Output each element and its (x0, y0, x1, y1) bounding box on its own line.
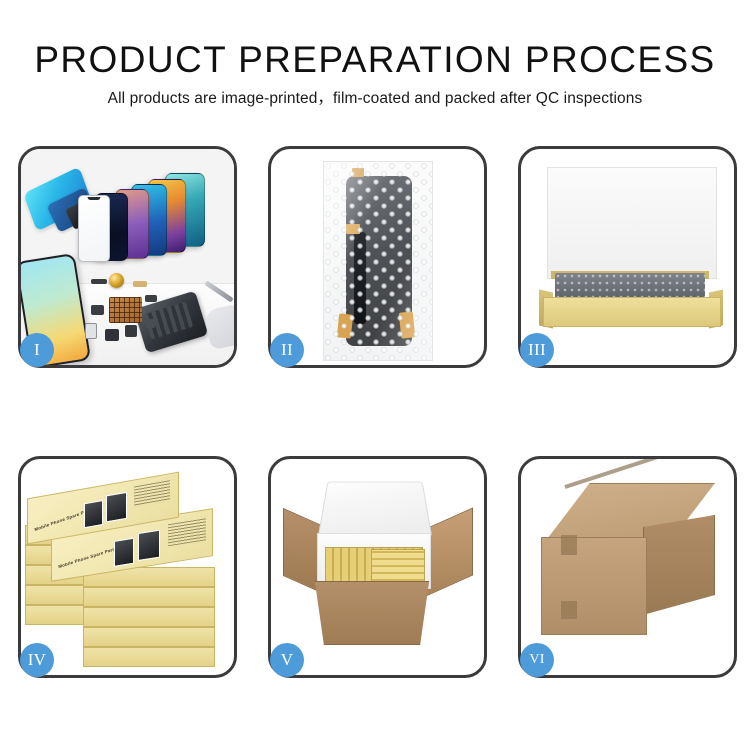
tempered-glass-icon (78, 195, 110, 262)
box-front-panel (543, 297, 721, 327)
connector-icon (91, 305, 104, 315)
bubble-wrap-bag-icon (323, 161, 433, 361)
carton-front-face (541, 537, 647, 635)
carton-tape-icon (561, 535, 577, 555)
panel-3-image (521, 149, 734, 365)
battery-connector-icon (125, 325, 137, 337)
panel-2-image (271, 149, 484, 365)
panel-4-image: Mobile Phone Spare Parts Mobile Phone Sp… (21, 459, 234, 675)
flex-cable-icon (133, 281, 147, 287)
small-part-icon (91, 279, 107, 284)
step-badge-2: II (270, 333, 304, 367)
process-step-panel-2: II (268, 146, 487, 368)
foam-padding-icon (555, 273, 705, 299)
box-product-photo (138, 530, 160, 561)
stacked-box (83, 587, 215, 607)
box-stack-icon: Mobile Phone Spare Parts Mobile Phone Sp… (21, 459, 234, 675)
page-title: PRODUCT PREPARATION PROCESS (0, 38, 750, 82)
process-step-panel-6: VI (518, 456, 737, 678)
copper-mesh-icon (109, 297, 142, 323)
page-subtitle: All products are image-printed，film-coat… (0, 88, 750, 110)
screw-plate-icon (145, 319, 155, 328)
process-step-grid: I II III (18, 146, 737, 678)
box-product-photo (114, 538, 134, 567)
carton-tape-icon (561, 601, 577, 619)
camera-module-icon (145, 295, 157, 302)
carton-body (307, 581, 437, 645)
foam-cooler-lid-icon (318, 482, 433, 538)
stacked-box (83, 627, 215, 647)
step-badge-1: I (20, 333, 54, 367)
process-step-panel-1: I (18, 146, 237, 368)
plastic-sheen (324, 162, 432, 360)
panel-5-image (271, 459, 484, 675)
vibration-motor-icon (105, 329, 119, 341)
panel-1-image (21, 149, 234, 365)
process-step-panel-5: V (268, 456, 487, 678)
process-step-panel-4: Mobile Phone Spare Parts Mobile Phone Sp… (18, 456, 237, 678)
step-badge-3: III (520, 333, 554, 367)
box-spec-lines (134, 480, 170, 507)
stacked-box (83, 647, 215, 667)
step-badge-5: V (270, 643, 304, 677)
box-label-text: Mobile Phone Spare Parts (58, 546, 117, 569)
box-product-photo (106, 492, 127, 523)
step-badge-6: VI (520, 643, 554, 677)
page-header: PRODUCT PREPARATION PROCESS All products… (0, 0, 750, 110)
speaker-module-icon (109, 273, 124, 288)
carton-side-face (643, 515, 715, 615)
box-lid-icon (547, 167, 717, 279)
phone-notch-icon (88, 197, 101, 200)
step-badge-4: IV (20, 643, 54, 677)
stacked-box (83, 607, 215, 627)
sim-tray-icon (85, 323, 97, 339)
panel-6-image (521, 459, 734, 675)
box-spec-lines (168, 518, 206, 546)
box-product-photo (84, 500, 103, 528)
process-step-panel-3: III (518, 146, 737, 368)
